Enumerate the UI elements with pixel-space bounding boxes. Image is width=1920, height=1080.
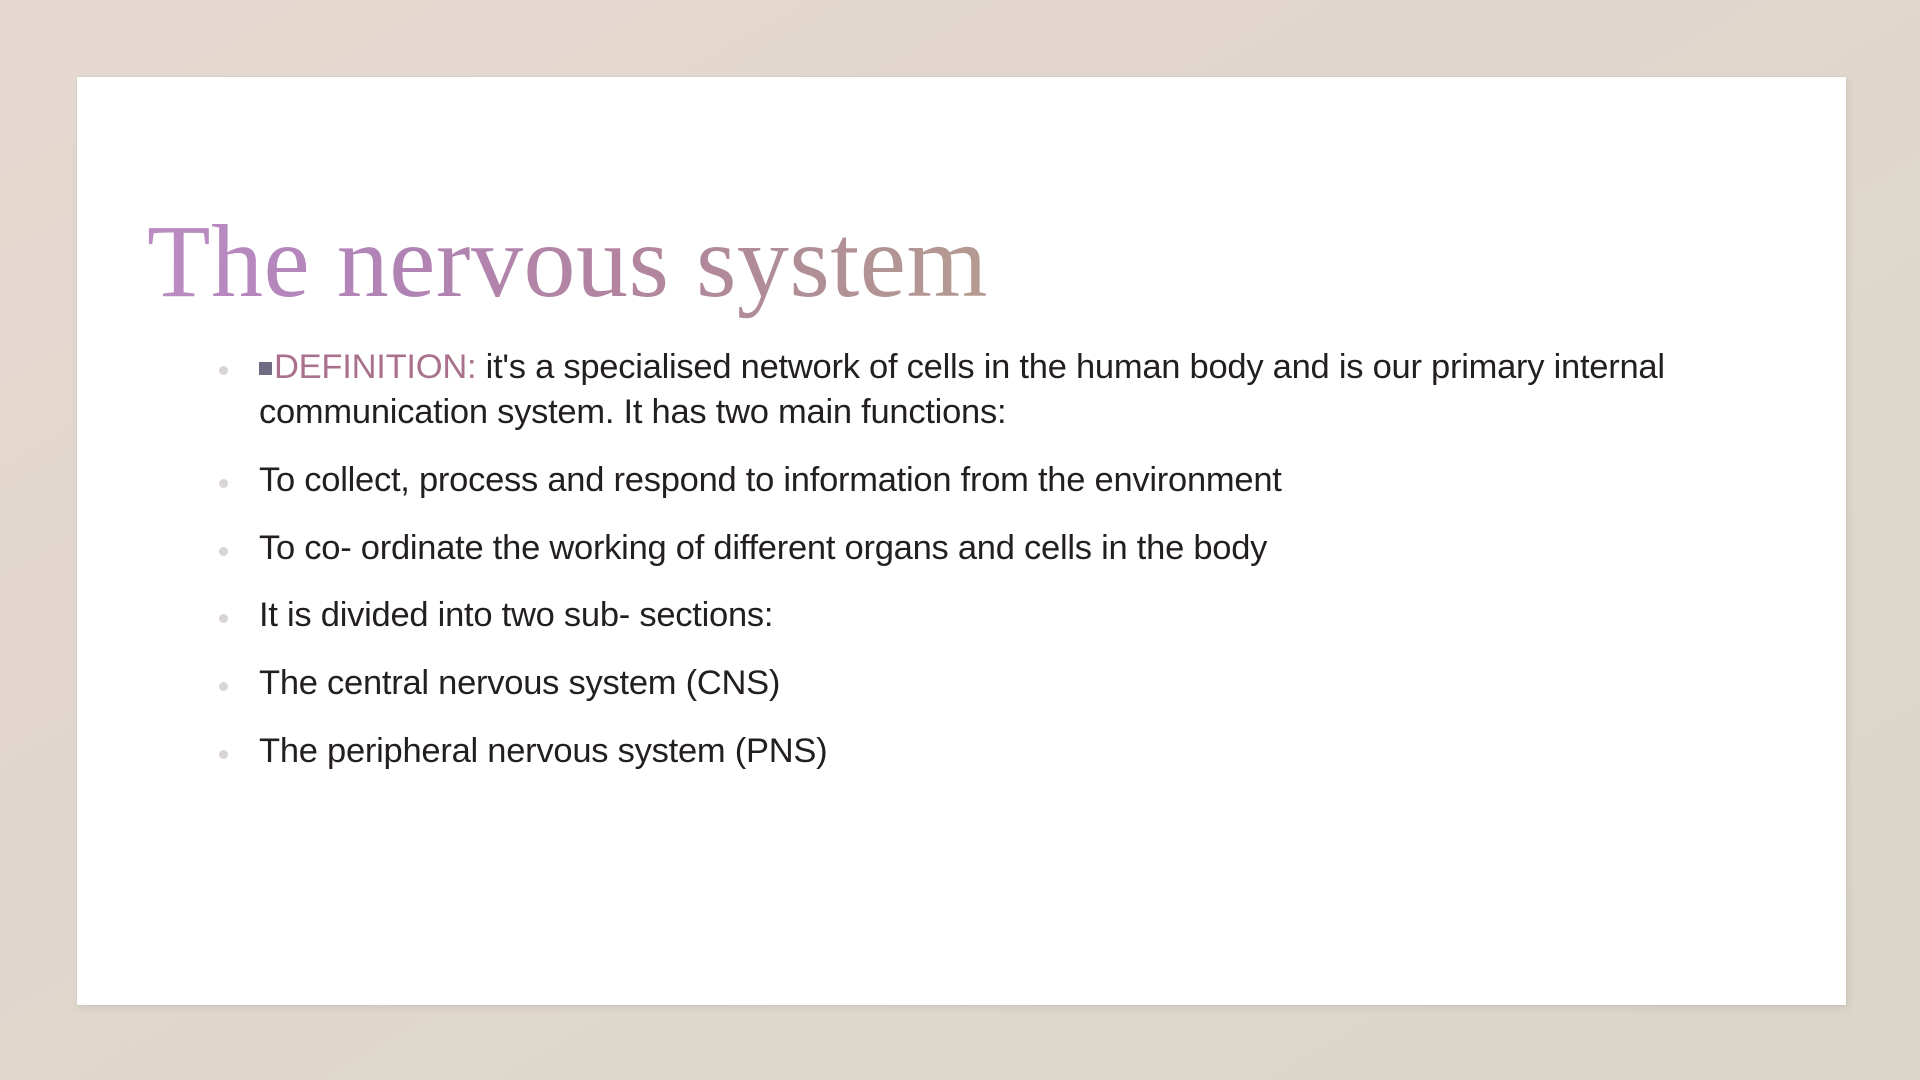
list-item-text: To co- ordinate the working of different… [259, 529, 1267, 567]
list-item[interactable]: To co- ordinate the working of different… [173, 526, 1793, 571]
list-item[interactable]: The peripheral nervous system (PNS) [173, 729, 1793, 774]
list-item-text: The peripheral nervous system (PNS) [259, 732, 827, 770]
list-item[interactable]: DEFINITION: it's a specialised network o… [173, 345, 1793, 435]
list-item[interactable]: To collect, process and respond to infor… [173, 458, 1793, 503]
bullet-marker-icon [219, 547, 228, 556]
square-bullet-icon [259, 362, 272, 375]
bullet-marker-icon [219, 614, 228, 623]
presentation-backdrop: The nervous system DEFINITION: it's a sp… [0, 0, 1920, 1080]
list-item[interactable]: It is divided into two sub- sections: [173, 593, 1793, 638]
bullet-marker-icon [219, 750, 228, 759]
definition-label: DEFINITION: [274, 348, 476, 386]
page-title: The nervous system [147, 201, 1747, 324]
list-item-text: It is divided into two sub- sections: [259, 596, 773, 634]
bullet-marker-icon [219, 366, 228, 375]
bullet-marker-icon [219, 682, 228, 691]
slide-card: The nervous system DEFINITION: it's a sp… [77, 77, 1846, 1005]
list-item-text: To collect, process and respond to infor… [259, 461, 1282, 499]
bullet-marker-icon [219, 479, 228, 488]
bullet-list: DEFINITION: it's a specialised network o… [173, 345, 1793, 774]
list-item[interactable]: The central nervous system (CNS) [173, 661, 1793, 706]
list-item-text: The central nervous system (CNS) [259, 664, 780, 702]
